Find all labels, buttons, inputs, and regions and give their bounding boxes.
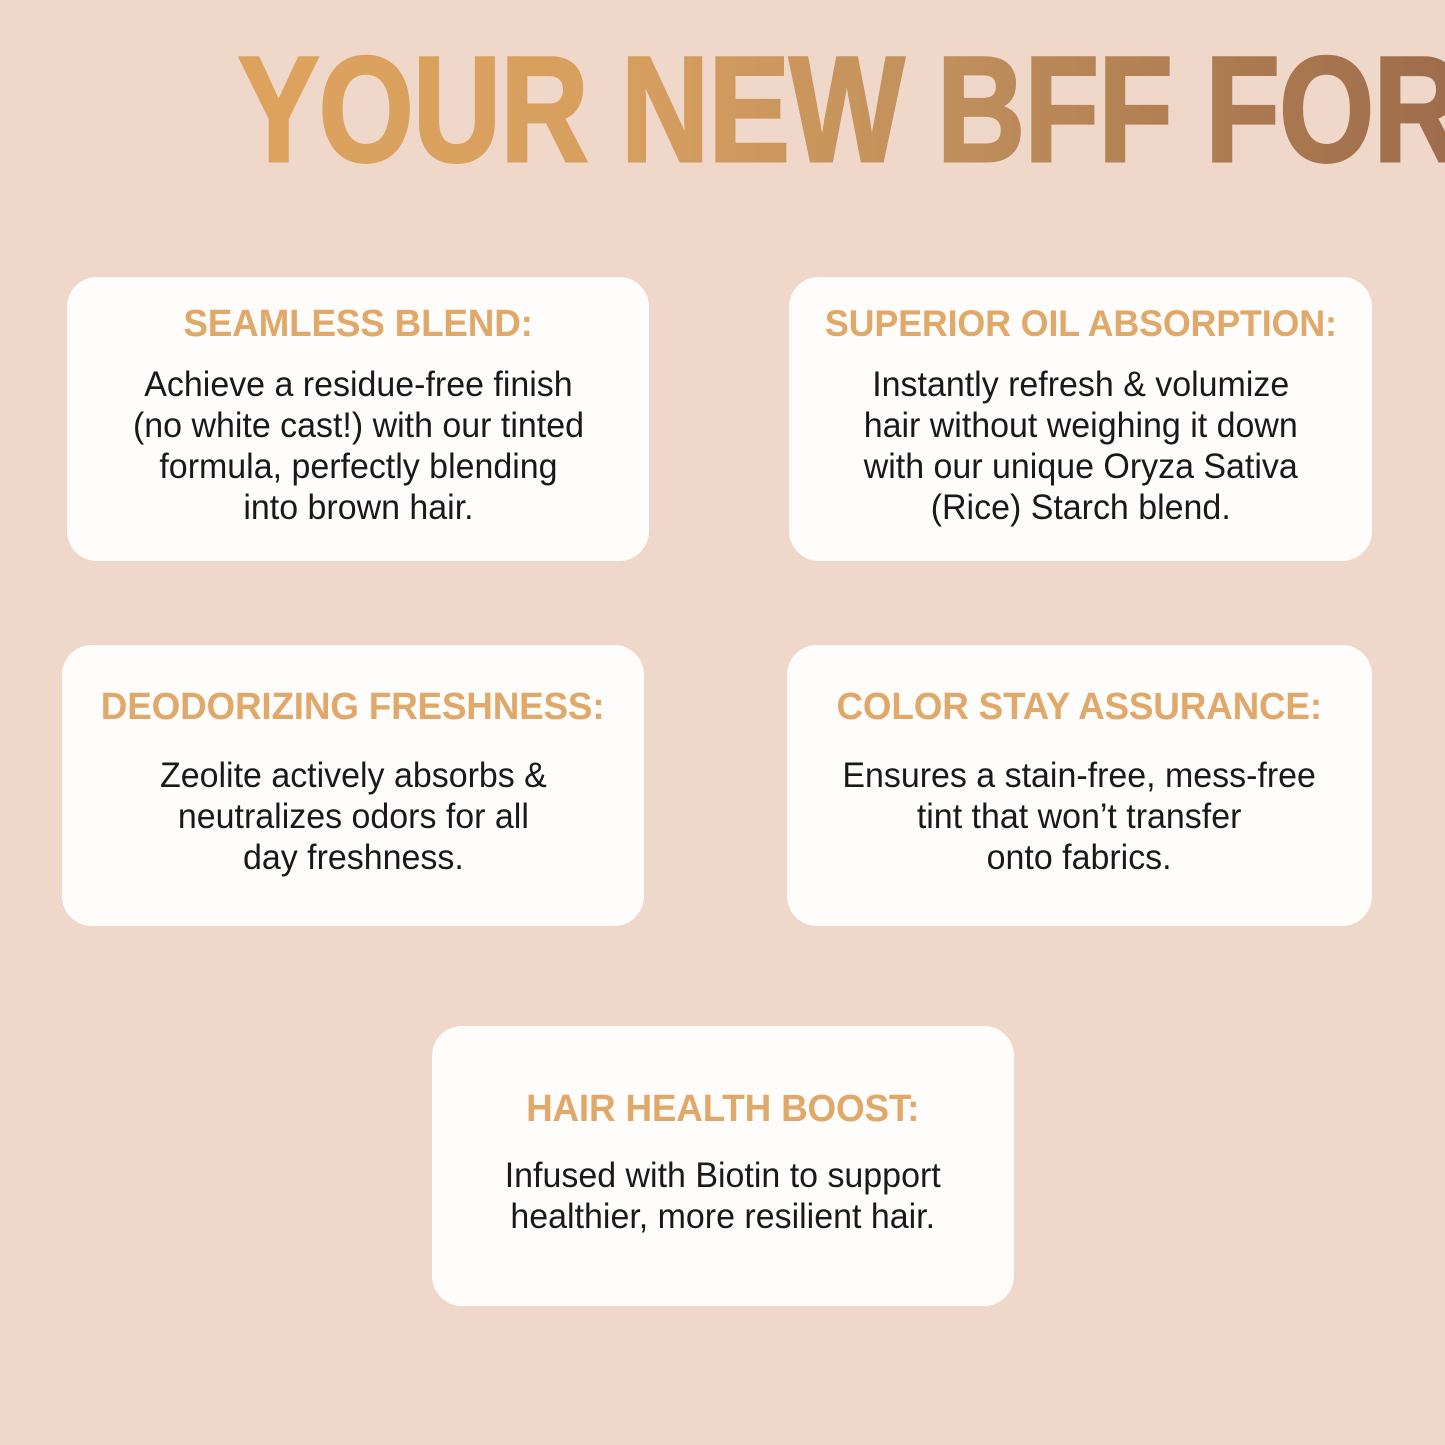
feature-card-body: Zeolite actively absorbs & neutralizes o… [160,756,547,879]
promo-graphic-root: YOUR NEW BFF FOR BROWN HAIR! SEAMLESS BL… [0,0,1445,1445]
feature-card-title: DEODORIZING FRESHNESS: [101,686,605,729]
feature-card-body: Instantly refresh & volumize hair withou… [863,365,1297,529]
headline-text: YOUR NEW BFF FOR BROWN HAIR! [238,34,1445,184]
feature-card-color-stay-assurance: COLOR STAY ASSURANCE: Ensures a stain-fr… [787,645,1372,926]
feature-card-title: COLOR STAY ASSURANCE: [837,686,1322,729]
feature-card-superior-oil-absorption: SUPERIOR OIL ABSORPTION: Instantly refre… [789,277,1372,561]
feature-card-title: SUPERIOR OIL ABSORPTION: [825,303,1337,344]
feature-card-body: Infused with Biotin to support healthier… [505,1156,941,1238]
feature-card-title: HAIR HEALTH BOOST: [526,1088,919,1131]
feature-card-title: SEAMLESS BLEND: [183,303,532,346]
feature-card-body: Ensures a stain-free, mess-free tint tha… [843,756,1317,879]
feature-card-deodorizing-freshness: DEODORIZING FRESHNESS: Zeolite actively … [62,645,644,926]
feature-card-body: Achieve a residue-free finish (no white … [133,365,584,529]
feature-card-seamless-blend: SEAMLESS BLEND: Achieve a residue-free f… [67,277,649,561]
headline: YOUR NEW BFF FOR BROWN HAIR! [0,34,1445,184]
feature-card-hair-health-boost: HAIR HEALTH BOOST: Infused with Biotin t… [432,1026,1014,1306]
